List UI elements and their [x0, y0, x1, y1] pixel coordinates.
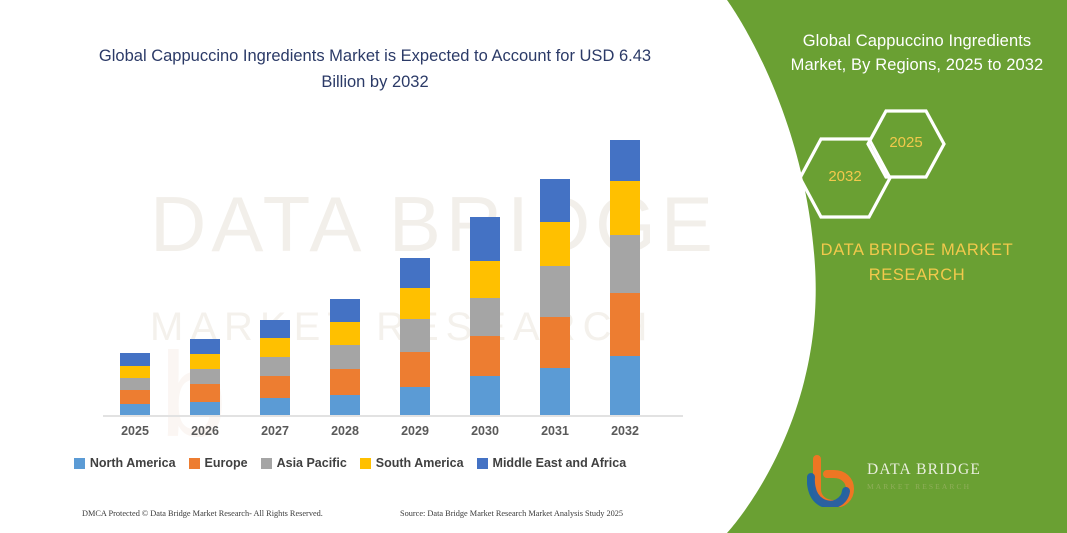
bar-segment [260, 376, 290, 398]
x-tick-2032: 2032 [590, 424, 660, 438]
brand-line-2: RESEARCH [767, 263, 1067, 288]
bar-column-2032[interactable] [610, 140, 640, 416]
bar-segment [540, 266, 570, 317]
bar-segment [540, 317, 570, 369]
legend-item[interactable]: South America [360, 456, 464, 470]
x-axis-labels: 20252026202720282029203020312032 [103, 424, 683, 446]
bar-segment [330, 395, 360, 416]
legend-item[interactable]: Asia Pacific [261, 456, 347, 470]
bar-segment [470, 298, 500, 336]
bar-segment [400, 352, 430, 387]
legend-swatch [74, 458, 85, 469]
x-tick-2030: 2030 [450, 424, 520, 438]
logo-name: DATA BRIDGE [867, 461, 981, 479]
bar-segment [540, 222, 570, 267]
bar-segment [260, 398, 290, 416]
x-tick-2028: 2028 [310, 424, 380, 438]
logo-mark-icon [807, 455, 863, 507]
bar-segment [610, 293, 640, 357]
hexagon-group: 2032 2025 [787, 108, 1047, 218]
bar-segment [470, 261, 500, 299]
bar-segment [260, 357, 290, 376]
brand-text: DATA BRIDGE MARKET RESEARCH [767, 238, 1067, 288]
data-bridge-logo: DATA BRIDGE MARKET RESEARCH [807, 455, 1027, 513]
bar-segment [470, 336, 500, 376]
bar-segment [330, 345, 360, 369]
brand-line-1: DATA BRIDGE MARKET [767, 238, 1067, 263]
bar-segment [260, 338, 290, 357]
legend-item[interactable]: North America [74, 456, 176, 470]
bar-column-2029[interactable] [400, 258, 430, 416]
bar-segment [330, 369, 360, 395]
bar-column-2026[interactable] [190, 339, 220, 416]
x-tick-2029: 2029 [380, 424, 450, 438]
legend-swatch [477, 458, 488, 469]
logo-wordmark: DATA BRIDGE MARKET RESEARCH [867, 461, 981, 491]
legend-label: Asia Pacific [277, 456, 347, 470]
bar-segment [610, 356, 640, 416]
bar-segment [400, 387, 430, 416]
legend-label: Europe [205, 456, 248, 470]
bar-segment [400, 258, 430, 288]
legend-item[interactable]: Middle East and Africa [477, 456, 627, 470]
bar-segment [120, 378, 150, 390]
bar-column-2030[interactable] [470, 217, 500, 416]
bar-segment [190, 339, 220, 354]
bar-column-2025[interactable] [120, 353, 150, 416]
footer-copyright: DMCA Protected © Data Bridge Market Rese… [82, 509, 323, 518]
x-tick-2025: 2025 [100, 424, 170, 438]
bar-segment [120, 366, 150, 378]
chart-legend: North AmericaEuropeAsia PacificSouth Ame… [0, 456, 700, 470]
bar-column-2027[interactable] [260, 320, 290, 416]
legend-label: Middle East and Africa [493, 456, 627, 470]
legend-label: North America [90, 456, 176, 470]
stacked-bar-plot [103, 120, 683, 416]
bar-segment [610, 181, 640, 236]
legend-swatch [189, 458, 200, 469]
bar-segment [610, 140, 640, 181]
chart-title: Global Cappuccino Ingredients Market is … [95, 44, 655, 95]
bar-segment [470, 217, 500, 261]
x-tick-2031: 2031 [520, 424, 590, 438]
bar-segment [190, 402, 220, 416]
hexagon-2025-label: 2025 [865, 134, 947, 151]
bar-segment [260, 320, 290, 338]
x-tick-2026: 2026 [170, 424, 240, 438]
legend-label: South America [376, 456, 464, 470]
bar-segment [190, 354, 220, 369]
bar-column-2031[interactable] [540, 179, 570, 416]
bar-segment [120, 353, 150, 366]
bar-segment [190, 384, 220, 402]
bar-column-2028[interactable] [330, 299, 360, 416]
bar-segment [190, 369, 220, 384]
bar-segment [400, 288, 430, 319]
panel-title: Global Cappuccino Ingredients Market, By… [782, 30, 1052, 78]
bar-segment [610, 235, 640, 293]
bar-segment [330, 299, 360, 323]
bar-segment [540, 179, 570, 221]
x-axis-line [103, 415, 683, 417]
bar-segment [540, 368, 570, 416]
bar-segment [120, 390, 150, 404]
bar-segment [330, 322, 360, 345]
bar-segment [400, 319, 430, 353]
logo-subtitle: MARKET RESEARCH [867, 482, 981, 491]
legend-swatch [360, 458, 371, 469]
hexagon-2025: 2025 [865, 108, 947, 180]
bar-segment [470, 376, 500, 416]
regions-panel: Global Cappuccino Ingredients Market, By… [687, 0, 1067, 533]
legend-swatch [261, 458, 272, 469]
legend-item[interactable]: Europe [189, 456, 248, 470]
footer-source: Source: Data Bridge Market Research Mark… [400, 509, 623, 518]
x-tick-2027: 2027 [240, 424, 310, 438]
